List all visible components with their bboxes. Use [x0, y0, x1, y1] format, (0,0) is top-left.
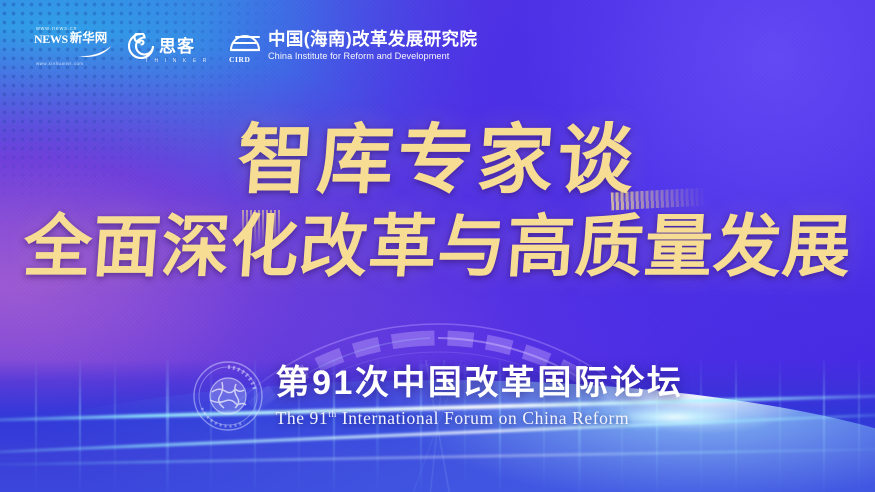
cird-abbreviation: CIRD — [229, 55, 251, 64]
forum-text-block: 第91次中国改革国际论坛 The 91th International Foru… — [276, 364, 684, 429]
poster-canvas: www.news.cn NEWS 新华网 www.xinhuanet.com 思… — [0, 0, 875, 492]
title-line-1: 智库专家谈 — [0, 118, 875, 202]
forum-title-en: The 91th International Forum on China Re… — [276, 404, 684, 429]
cird-emblem-icon: CIRD — [228, 27, 262, 65]
thinker-swirl-icon — [128, 33, 154, 59]
cird-english-name: China Institute for Reform and Developme… — [268, 50, 477, 62]
thinker-chinese-name: 思客 — [159, 38, 195, 55]
xinhua-url-bottom: www.xinhuanet.com — [36, 61, 84, 66]
forum-identity: 第91次中国改革国际论坛 The 91th International Foru… — [0, 360, 875, 432]
forum-title-cn: 第91次中国改革国际论坛 — [276, 364, 684, 402]
cird-text-block: 中国(海南)改革发展研究院 China Institute for Reform… — [268, 30, 477, 62]
xinhua-latin-mark: NEWS — [34, 34, 68, 44]
thinker-english-name: T H I N K E R — [145, 58, 209, 64]
xinhua-wordmark: NEWS 新华网 — [34, 33, 107, 44]
thinker-logo[interactable]: 思客 T H I N K E R — [128, 27, 210, 65]
xinhua-chinese-mark: 新华网 — [70, 33, 108, 44]
forum-en-ordinal-suffix: th — [328, 410, 337, 420]
xinhuanet-logo[interactable]: www.news.cn NEWS 新华网 www.xinhuanet.com — [34, 26, 112, 66]
xinhua-swoosh-icon — [78, 46, 112, 58]
cird-logo[interactable]: CIRD 中国(海南)改革发展研究院 China Institute for R… — [228, 27, 477, 65]
sponsor-logo-bar: www.news.cn NEWS 新华网 www.xinhuanet.com 思… — [34, 26, 477, 66]
forum-en-suffix: International Forum on China Reform — [337, 407, 629, 427]
forum-seal-emblem-icon — [192, 360, 264, 432]
title-line-2: 全面深化改革与高质量发展 — [0, 208, 875, 288]
forum-en-prefix: The 91 — [276, 407, 329, 427]
cird-chinese-name: 中国(海南)改革发展研究院 — [268, 30, 477, 49]
main-title: 智库专家谈 全面深化改革与高质量发展 — [0, 118, 875, 288]
